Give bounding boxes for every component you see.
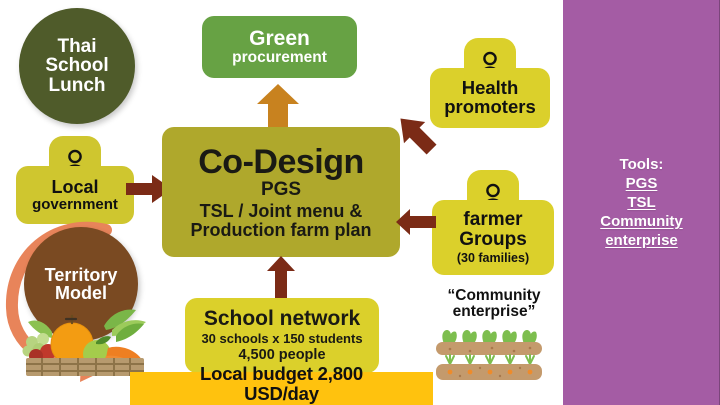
community-enterprise-line-2: enterprise” <box>453 304 536 320</box>
thai-school-lunch-circle: Thai School Lunch <box>19 8 135 124</box>
fruit-vegetable-basket-illustration <box>8 296 150 376</box>
school-network-line-2: 4,500 people <box>238 348 325 363</box>
local-government-line-2: government <box>32 197 118 212</box>
co-design-sub-3: Production farm plan <box>190 221 371 239</box>
co-design-sub-1: PGS <box>261 180 301 199</box>
thai-school-lunch-line-1: Thai <box>57 37 96 56</box>
community-enterprise-line-1: “Community <box>448 288 541 304</box>
farmer-groups-line-3: (30 families) <box>457 252 529 265</box>
local-government-group: Local government <box>16 136 134 224</box>
arrow-farmer-groups-to-codesign <box>396 209 436 235</box>
green-procurement-box: Green procurement <box>202 16 357 78</box>
thai-school-lunch-line-2: School <box>45 56 108 75</box>
farmer-groups-box: farmer Groups (30 families) <box>432 200 554 275</box>
budget-text: Local budget 2,800 USD/day <box>130 364 433 404</box>
health-promoters-box: Health promoters <box>430 68 550 128</box>
thai-school-lunch-line-3: Lunch <box>49 76 106 95</box>
school-network-line-1: 30 schools x 150 students <box>201 332 362 345</box>
health-promoters-line-2: promoters <box>444 98 536 117</box>
co-design-box: Co-Design PGS TSL / Joint menu & Product… <box>162 127 400 257</box>
tools-heading: Tools: <box>600 155 683 174</box>
territory-model-line-1: Territory <box>45 266 118 284</box>
arrow-school-network-to-codesign <box>266 256 296 298</box>
carrot-lettuce-garden-rows-illustration <box>430 328 548 386</box>
school-network-title: School network <box>204 308 360 329</box>
green-procurement-subtitle: procurement <box>232 50 327 66</box>
tools-panel: Tools: PGS TSL Community enterprise <box>563 0 720 405</box>
farmer-groups-line-1: farmer <box>463 210 522 229</box>
health-promoters-group: Health promoters <box>430 38 550 128</box>
community-enterprise-caption: “Community enterprise” <box>424 283 564 325</box>
tools-item-pgs: PGS <box>600 174 683 193</box>
co-design-title: Co-Design <box>198 145 364 180</box>
co-design-sub-2: TSL / Joint menu & <box>200 202 363 220</box>
arrow-codesign-to-green-procurement <box>255 84 301 128</box>
green-procurement-title: Green <box>249 28 310 49</box>
farmer-groups-group: farmer Groups (30 families) <box>432 170 554 275</box>
slide-canvas: Tools: PGS TSL Community enterprise Thai… <box>0 0 720 405</box>
tools-item-community: Community <box>600 212 683 231</box>
budget-line-2: USD/day <box>130 384 433 404</box>
tools-item-enterprise: enterprise <box>600 231 683 250</box>
tools-panel-content: Tools: PGS TSL Community enterprise <box>600 155 683 251</box>
local-government-line-1: Local <box>51 178 98 196</box>
tools-item-tsl: TSL <box>600 193 683 212</box>
farmer-groups-line-2: Groups <box>459 230 527 249</box>
budget-line-1: Local budget 2,800 <box>130 364 433 384</box>
school-network-box: School network 30 schools x 150 students… <box>185 298 379 373</box>
